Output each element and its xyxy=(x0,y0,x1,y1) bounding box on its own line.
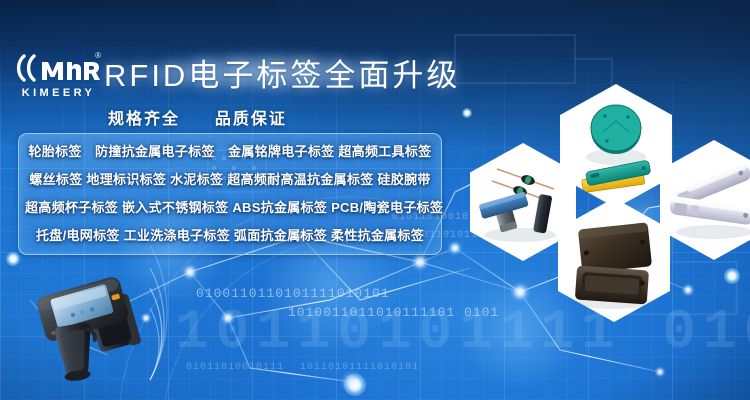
headline-subtitle: 规格齐全 品质保证 xyxy=(108,105,287,129)
subtitle-right-text: 品质保证 xyxy=(215,111,287,128)
scanner-illustration xyxy=(28,272,158,384)
glow-dot xyxy=(462,108,472,118)
tag-row: 超高频杯子标签 嵌入式不锈钢标签 ABS抗金属标签 PCB/陶瓷电子标签 xyxy=(25,194,435,222)
glow-dot xyxy=(344,374,366,396)
product-tag-list-panel: 轮胎标签 防撞抗金属电子标签 金属铭牌电子标签 超高频工具标签 螺丝标签 地理标… xyxy=(18,133,442,255)
headline-block: RFID电子标签全面升级 xyxy=(104,50,460,95)
tag-row: 轮胎标签 防撞抗金属电子标签 金属铭牌电子标签 超高频工具标签 xyxy=(25,138,435,166)
glow-dot xyxy=(6,252,20,266)
tag-row: 螺丝标签 地理标识标签 水泥标签 超高频耐高温抗金属标签 硅胶腕带 xyxy=(25,166,435,194)
page-title: RFID电子标签全面升级 xyxy=(104,50,460,95)
glow-dot xyxy=(724,268,740,284)
tag-row: 托盘/电网标签 工业洗涤电子标签 弧面抗金属标签 柔性抗金属标签 xyxy=(25,222,435,250)
logo-company-name: KIMEERY xyxy=(12,87,102,99)
subtitle-left-text: 规格齐全 xyxy=(108,111,180,128)
kimeery-logo[interactable]: ® KIMEERY xyxy=(12,52,102,99)
handheld-rfid-reader[interactable] xyxy=(28,272,158,384)
logo-mark-kmr: ® xyxy=(12,52,102,84)
rfid-promotional-banner: 10110101111 0101 xyxy=(0,0,750,400)
